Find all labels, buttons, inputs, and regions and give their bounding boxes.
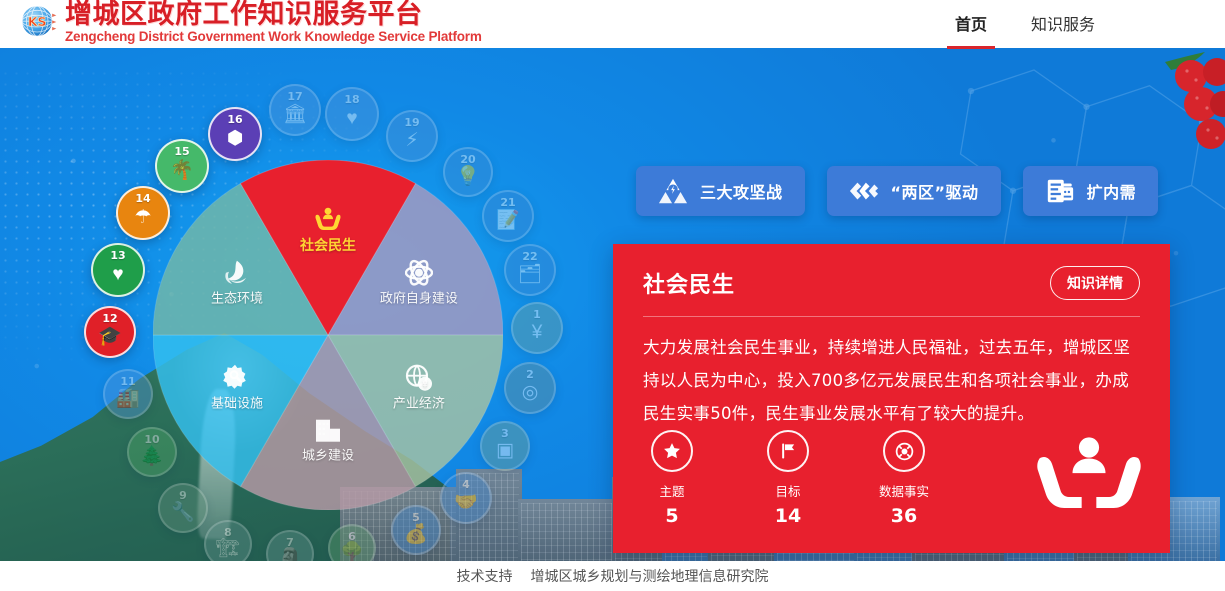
site-footer: 技术支持 增城区城乡规划与测绘地理信息研究院 bbox=[0, 561, 1225, 591]
graduation-icon: 🎓 bbox=[98, 327, 122, 346]
orbit-node-number: 18 bbox=[344, 94, 359, 105]
main-nav: 首页 知识服务 bbox=[955, 0, 1095, 48]
orbit-node-number: 11 bbox=[120, 376, 135, 387]
star-icon bbox=[651, 430, 693, 472]
panel-header: 社会民生 知识详情 bbox=[643, 266, 1140, 300]
action-buttons: 三大攻坚战 “两区”驱动 bbox=[636, 166, 1158, 216]
orbit-node-number: 19 bbox=[404, 117, 419, 128]
heart-hand-icon: ♥ bbox=[346, 109, 357, 128]
panel-stats: 主题 5 目标 14 bbox=[643, 430, 933, 527]
orbit-node-12[interactable]: 12🎓 bbox=[84, 306, 136, 358]
nav-item-knowledge-service[interactable]: 知识服务 bbox=[1031, 11, 1095, 37]
orbit-node-number: 22 bbox=[522, 251, 537, 262]
knowledge-detail-button[interactable]: 知识详情 bbox=[1050, 266, 1140, 300]
umbrella-icon: ☂ bbox=[134, 208, 151, 227]
panel-title: 社会民生 bbox=[643, 267, 735, 299]
orbit-node-number: 12 bbox=[102, 313, 117, 324]
orbit-node-number: 13 bbox=[110, 250, 125, 261]
factory-icon: 🏭 bbox=[116, 389, 140, 408]
stat-value: 14 bbox=[759, 505, 817, 527]
info-panel: 社会民生 知识详情 大力发展社会民生事业，持续增进人民福祉，过去五年，增城区坚持… bbox=[613, 244, 1170, 553]
orbit-node-number: 1 bbox=[533, 309, 541, 320]
money-hand-icon: 💰 bbox=[404, 525, 428, 544]
stat-label: 数据事实 bbox=[875, 481, 933, 500]
site-title-cn: 增城区政府工作知识服务平台 bbox=[65, 1, 482, 28]
shield-home-icon: ⬢ bbox=[227, 129, 244, 148]
expand-demand-icon bbox=[1045, 176, 1075, 206]
action-button-expand-demand[interactable]: 扩内需 bbox=[1023, 166, 1159, 216]
lifebuoy-icon bbox=[883, 430, 925, 472]
three-battles-icon bbox=[658, 176, 688, 206]
panel-divider bbox=[643, 316, 1140, 317]
orbit-node-22[interactable]: 22🗂 bbox=[504, 244, 556, 296]
orbit-node-19[interactable]: 19⚡ bbox=[386, 110, 438, 162]
hero-area: 17🏛18♥19⚡20💡21📝22🗂1¥2◎3▣4🤝5💰6🌳7🗿8🏗9🔧10🌲1… bbox=[0, 48, 1225, 561]
files-icon: 🗂 bbox=[518, 265, 542, 284]
tree-icon: 🌳 bbox=[340, 543, 364, 561]
logo-mark-text: KS bbox=[28, 14, 47, 29]
orbit-node-number: 15 bbox=[174, 146, 189, 157]
factory-city-icon: 🏗 bbox=[216, 539, 240, 558]
hands-person-icon bbox=[1034, 429, 1144, 521]
panel-body-text: 大力发展社会民生事业，持续增进人民福祉，过去五年，增城区坚持以人民为中心，投入7… bbox=[643, 331, 1140, 430]
orbit-node-number: 16 bbox=[227, 114, 242, 125]
site-header: KS 增城区政府工作知识服务平台 Zengcheng District Gove… bbox=[0, 0, 1225, 48]
stat-value: 36 bbox=[875, 505, 933, 527]
nav-item-home[interactable]: 首页 bbox=[955, 11, 987, 37]
orbit-node-number: 6 bbox=[348, 531, 356, 542]
stat-data-facts: 数据事实 36 bbox=[875, 430, 933, 527]
orbit-node-16[interactable]: 16⬢ bbox=[208, 107, 262, 161]
target-cycle-icon: ◎ bbox=[522, 383, 539, 402]
orbit-node-17[interactable]: 17🏛 bbox=[269, 84, 321, 136]
two-zones-icon bbox=[849, 176, 879, 206]
orbit-node-1[interactable]: 1¥ bbox=[511, 302, 563, 354]
orbit-node-18[interactable]: 18♥ bbox=[325, 87, 379, 141]
footer-support-label: 技术支持 bbox=[457, 566, 513, 586]
wheel-segments[interactable] bbox=[153, 160, 503, 510]
statue-icon: 🗿 bbox=[278, 549, 302, 561]
stat-goals: 目标 14 bbox=[759, 430, 817, 527]
coins-yuan-icon: ¥ bbox=[532, 323, 543, 342]
site-title-en: Zengcheng District Government Work Knowl… bbox=[65, 30, 482, 44]
orbit-node-8[interactable]: 8🏗 bbox=[204, 520, 252, 561]
orbit-node-11[interactable]: 11🏭 bbox=[103, 369, 153, 419]
action-label: 三大攻坚战 bbox=[700, 179, 783, 203]
alarm-icon: ⚡ bbox=[405, 131, 418, 150]
action-button-three-battles[interactable]: 三大攻坚战 bbox=[636, 166, 805, 216]
orbit-node-number: 14 bbox=[135, 193, 150, 204]
orbit-node-number: 17 bbox=[287, 91, 302, 102]
action-button-two-zones[interactable]: “两区”驱动 bbox=[827, 166, 1001, 216]
brand-block: KS 增城区政府工作知识服务平台 Zengcheng District Gove… bbox=[18, 1, 482, 44]
orbit-node-number: 8 bbox=[224, 527, 232, 538]
heart-pulse-icon: ♥ bbox=[112, 265, 123, 284]
brand-text: 增城区政府工作知识服务平台 Zengcheng District Governm… bbox=[65, 1, 482, 44]
stat-topics: 主题 5 bbox=[643, 430, 701, 527]
globe-ks-logo-icon: KS bbox=[18, 2, 58, 42]
orbit-node-number: 7 bbox=[286, 537, 294, 548]
action-label: “两区”驱动 bbox=[891, 179, 979, 203]
flag-icon bbox=[767, 430, 809, 472]
stat-label: 目标 bbox=[759, 481, 817, 500]
orbit-node-2[interactable]: 2◎ bbox=[504, 362, 556, 414]
action-label: 扩内需 bbox=[1087, 179, 1137, 203]
orbit-node-13[interactable]: 13♥ bbox=[91, 243, 145, 297]
knowledge-wheel: 政府自身建设¥产业经济城乡建设基础设施生态环境社会民生 bbox=[153, 160, 503, 510]
stat-value: 5 bbox=[643, 505, 701, 527]
lychee-decoration-icon bbox=[1105, 48, 1225, 168]
orbit-node-number: 2 bbox=[526, 369, 534, 380]
stat-label: 主题 bbox=[643, 481, 701, 500]
app-root: KS 增城区政府工作知识服务平台 Zengcheng District Gove… bbox=[0, 0, 1225, 591]
footer-support-org: 增城区城乡规划与测绘地理信息研究院 bbox=[531, 566, 769, 586]
bank-icon: 🏛 bbox=[283, 105, 307, 124]
